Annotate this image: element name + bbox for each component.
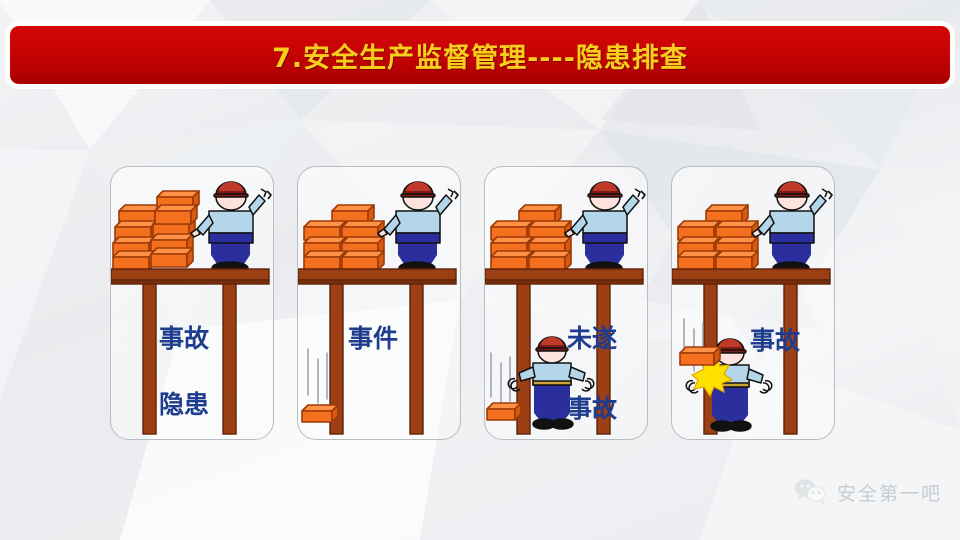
brick xyxy=(491,251,533,270)
panel-card-incident[interactable]: 事件 xyxy=(297,166,461,440)
brick xyxy=(113,251,155,270)
panel-card-near-miss[interactable]: 未遂 事故 xyxy=(484,166,648,440)
brick xyxy=(678,251,720,270)
slide-canvas: 7.安全生产监督管理----隐患排查 xyxy=(0,0,960,540)
motion-lines xyxy=(308,349,327,403)
illustration-accident xyxy=(672,167,834,439)
motion-lines xyxy=(491,353,510,405)
wechat-icon xyxy=(794,478,828,506)
panel-row: 事故 隐患 xyxy=(0,0,960,540)
panel-card-accident[interactable]: 事故 xyxy=(671,166,835,440)
illustration-near-miss xyxy=(485,167,647,439)
panel-label-line-1: 事故 xyxy=(750,321,800,357)
watermark: 安全第一吧 xyxy=(794,478,942,506)
panel-label-line-1: 事件 xyxy=(348,319,398,355)
brick xyxy=(529,251,571,270)
brick xyxy=(716,251,758,270)
brick xyxy=(151,248,193,267)
ground-brick xyxy=(302,405,338,422)
worker-on-table xyxy=(191,182,271,274)
panel-label-line-2: 事故 xyxy=(567,389,617,425)
worker-on-table xyxy=(378,182,458,274)
brick xyxy=(155,205,197,224)
panel-label-line-1: 事故 xyxy=(159,319,209,355)
ground-brick xyxy=(487,403,521,420)
worker-on-table xyxy=(752,182,832,274)
panel-label-line-1: 未遂 xyxy=(567,319,617,355)
illustration-incident xyxy=(298,167,460,439)
falling-brick xyxy=(680,347,720,365)
brick xyxy=(342,251,384,270)
brick xyxy=(304,251,346,270)
panel-card-hazard[interactable]: 事故 隐患 xyxy=(110,166,274,440)
panel-label-line-2: 隐患 xyxy=(159,385,209,421)
worker-on-table xyxy=(565,182,645,274)
watermark-label: 安全第一吧 xyxy=(837,479,942,506)
